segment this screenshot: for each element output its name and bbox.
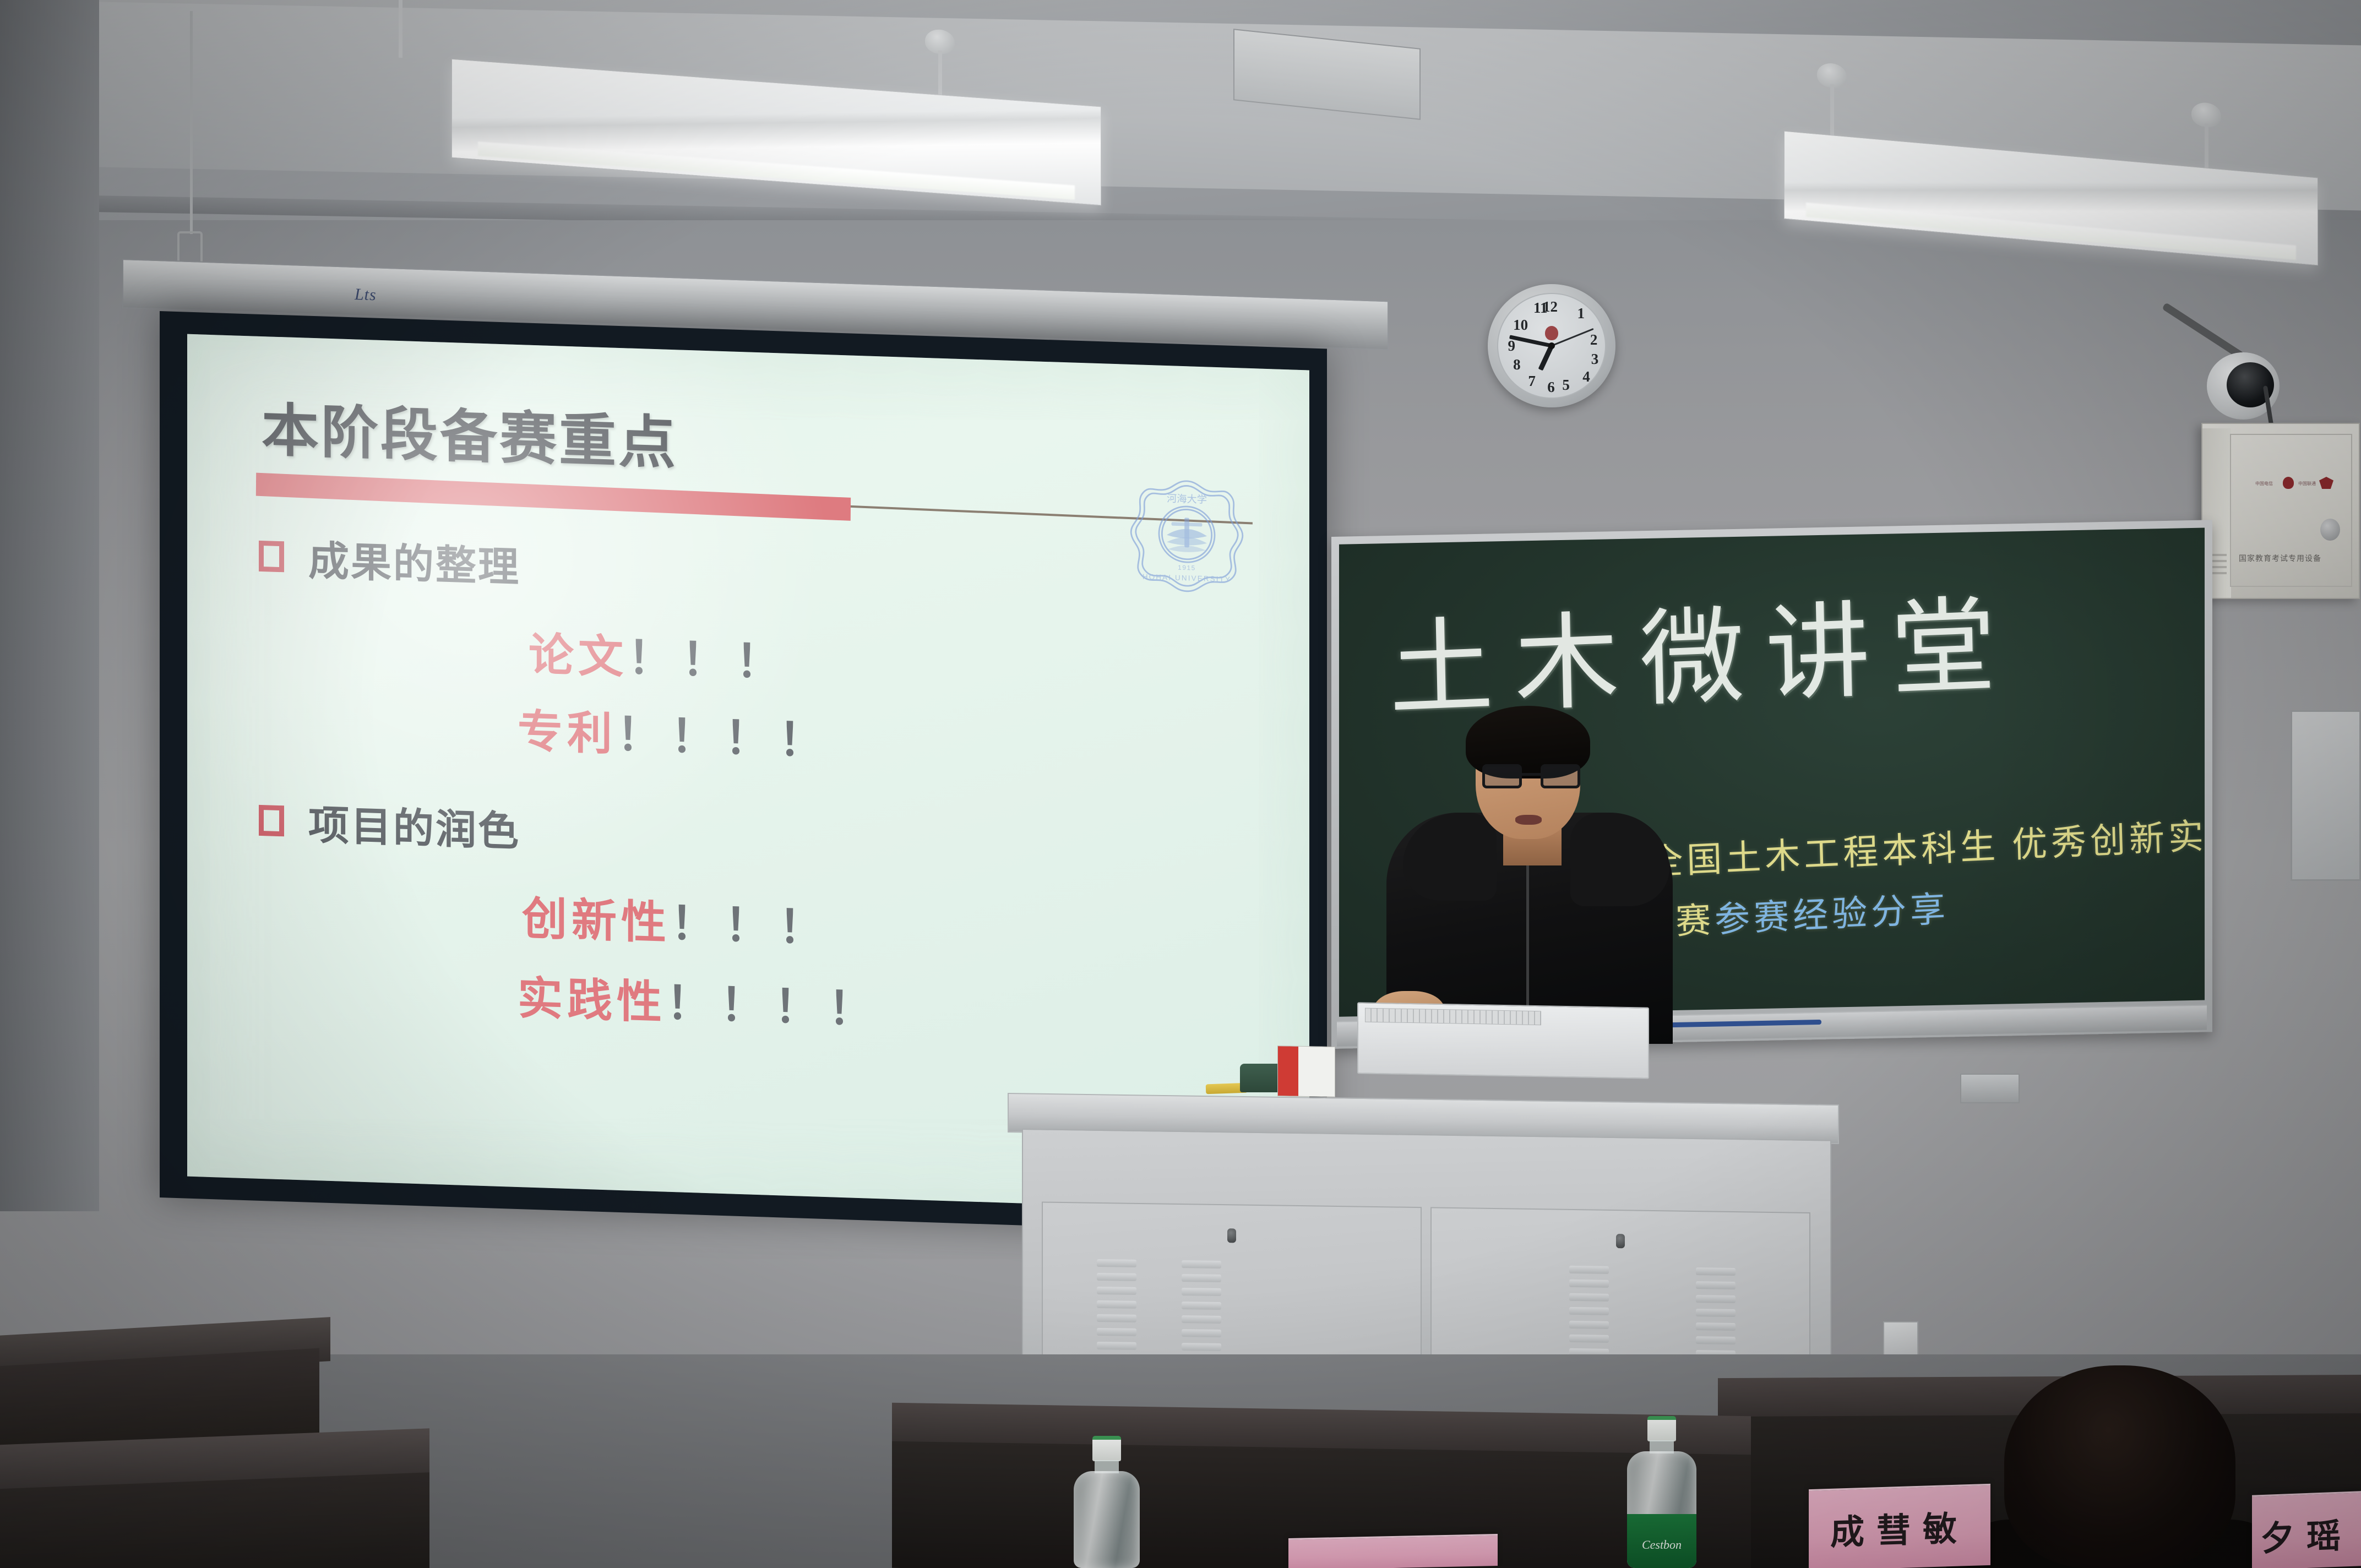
clock-num-7: 7 — [1528, 373, 1536, 390]
equipment-logo-label-2: 中国联通 — [2298, 481, 2316, 487]
bottle-label-right: Cestbon — [1627, 1514, 1696, 1568]
screen-hanger-wire — [190, 11, 193, 234]
name-card-right[interactable]: 夕瑶 — [2252, 1491, 2361, 1568]
emphasis-word-3: 创新性 — [522, 892, 671, 950]
svg-text:河海大学: 河海大学 — [1167, 493, 1207, 505]
screen-brand-label: Lts — [355, 285, 377, 304]
emphasis-line-2: 专利！！！！ — [518, 694, 833, 770]
classroom-scene: Lts 本阶段备赛重点 — [0, 0, 2361, 1568]
presenter-mouth — [1515, 815, 1542, 825]
glasses-lens-right — [1541, 764, 1580, 788]
emphasis-word-2: 专利 — [518, 705, 617, 761]
audience-head — [2004, 1365, 2235, 1568]
wall-left-corner — [0, 0, 99, 1211]
emphasis-line-1: 论文！！！ — [529, 618, 790, 692]
university-seal-icon: 河海大学 1915 HOHAI UNIVERSITY — [1128, 475, 1246, 597]
clock-num-9: 9 — [1508, 337, 1515, 355]
clock-num-10: 10 — [1513, 317, 1528, 334]
water-bottle-left[interactable] — [1074, 1436, 1140, 1568]
clock-num-3: 3 — [1591, 351, 1599, 368]
emphasis-word-4: 实践性 — [518, 972, 666, 1030]
slide-title: 本阶段备赛重点 — [262, 383, 678, 480]
blackboard-eraser[interactable] — [1240, 1064, 1283, 1092]
clock-num-1: 1 — [1577, 305, 1585, 322]
wall-clock: 12 1 2 3 4 5 6 7 8 9 10 11 — [1488, 284, 1615, 407]
clock-face: 12 1 2 3 4 5 6 7 8 9 10 11 — [1497, 293, 1606, 399]
slide-bullet-row-1: 成果的整理 — [259, 526, 520, 594]
glasses-bridge — [1522, 773, 1541, 776]
equipment-box-knob[interactable] — [2320, 519, 2340, 541]
name-card-left[interactable] — [1288, 1534, 1498, 1568]
podium-lock-right-icon[interactable] — [1616, 1234, 1625, 1248]
emphasis-word-1: 论文 — [529, 629, 628, 684]
bullet-square-icon — [259, 540, 284, 571]
clock-num-6: 6 — [1547, 379, 1555, 396]
blackboard-headline: 土木微讲堂 — [1387, 560, 2018, 737]
bottle-body-right: Cestbon — [1627, 1451, 1696, 1568]
name-card-center[interactable]: 成彗敏 — [1809, 1484, 1990, 1568]
seal-year: 1915 — [1178, 564, 1196, 572]
chalk-box[interactable] — [1277, 1046, 1335, 1097]
bullet-square-icon-2 — [259, 804, 284, 836]
exam-equipment-box[interactable]: 中国电信 中国联通 国家教育考试专用设备 — [2201, 423, 2360, 599]
clock-num-2: 2 — [1590, 331, 1598, 349]
wall-access-panel — [2291, 710, 2361, 881]
slide-title-accent-bar — [256, 473, 851, 521]
emphasis-marks-2: ！！！！ — [617, 709, 833, 768]
laptop-keyboard[interactable] — [1365, 1008, 1541, 1026]
glasses-lens-left — [1482, 764, 1522, 788]
light-hanger-rod-left — [399, 0, 402, 58]
bullet-label-1: 成果的整理 — [308, 528, 520, 594]
blackboard-wall-mount — [1960, 1074, 2020, 1103]
blackboard-line2-part2: 参赛经验分享 — [1714, 890, 1950, 940]
blackboard-subtitle-line-1: 全国土木工程本科生 优秀创新实践成果 — [1647, 802, 2205, 885]
water-bottle-right[interactable]: Cestbon — [1627, 1416, 1696, 1568]
slide-bullet-row-2: 项目的润色 — [259, 791, 520, 858]
presenter-laptop[interactable] — [1357, 1002, 1649, 1079]
clock-num-5: 5 — [1562, 377, 1570, 394]
blackboard-subtitle-line-2: 竞赛参赛经验分享 — [1636, 881, 1950, 946]
clock-num-11: 11 — [1533, 300, 1548, 317]
equipment-logo-label-1: 中国电信 — [2255, 481, 2273, 487]
telecom-logo-icon — [2283, 477, 2294, 489]
emphasis-marks-1: ！！！ — [628, 631, 790, 689]
emphasis-line-3: 创新性！！！ — [522, 881, 833, 957]
desk-left-lower-body — [0, 1472, 429, 1568]
emphasis-line-4: 实践性！！！！ — [518, 961, 882, 1038]
bottle-cap-right — [1647, 1416, 1676, 1441]
projection-screen-surface[interactable]: 本阶段备赛重点 河海大学 1915 — [187, 334, 1309, 1213]
bottle-cap-left — [1092, 1436, 1121, 1461]
emphasis-marks-3: ！！！ — [671, 897, 833, 955]
equipment-box-panel — [2230, 434, 2352, 587]
clock-center-pin — [1548, 342, 1555, 349]
light-hanger-rod-2-left — [1830, 84, 1834, 140]
bottle-brand-text: Cestbon — [1627, 1538, 1696, 1552]
clock-num-4: 4 — [1582, 368, 1590, 385]
clock-brand-logo-icon — [1545, 326, 1558, 340]
podium-lock-left-icon[interactable] — [1227, 1228, 1236, 1243]
bottle-body-left — [1074, 1471, 1140, 1568]
seal-english-name: HOHAI UNIVERSITY — [1143, 573, 1231, 584]
bullet-label-2: 项目的润色 — [308, 792, 520, 858]
presenter-glasses-icon — [1482, 764, 1580, 788]
equipment-box-label: 国家教育考试专用设备 — [2239, 553, 2321, 564]
emphasis-marks-4: ！！！！ — [666, 977, 882, 1037]
clock-num-8: 8 — [1513, 356, 1521, 373]
